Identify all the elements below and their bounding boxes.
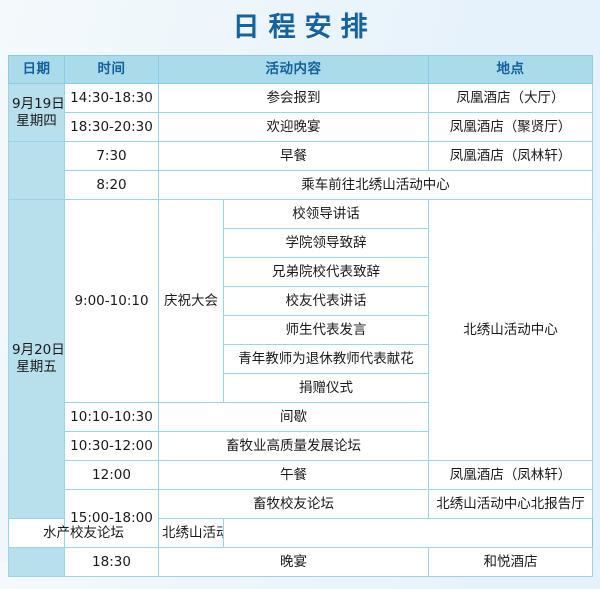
time-cell: 14:30-18:30 [65, 84, 159, 113]
activity-cell: 欢迎晚宴 [159, 113, 429, 142]
place-cell: 凤凰酒店（大厅） [429, 84, 593, 113]
time-cell: 18:30 [65, 548, 159, 577]
time-cell: 12:00 [65, 461, 159, 490]
activity-cell: 畜牧校友论坛 [159, 490, 429, 519]
activity-cell: 学院领导致辞 [224, 229, 429, 258]
place-cell: 和悦酒店 [429, 548, 593, 577]
schedule-page: 日程安排 日期 时间 活动内容 地点 9月19日 星期四 [0, 0, 600, 562]
table-row: 12:00 午餐 凤凰酒店（凤林轩） [9, 461, 593, 490]
activity-cell: 师生代表发言 [224, 316, 429, 345]
activity-cell: 早餐 [159, 142, 429, 171]
activity-cell: 捐赠仪式 [224, 374, 429, 403]
activity-cell: 校领导讲话 [224, 200, 429, 229]
table-header-row: 日期 时间 活动内容 地点 [9, 56, 593, 84]
activity-cell: 畜牧业高质量发展论坛 [159, 432, 429, 461]
date-line-2: 星期四 [16, 113, 57, 129]
time-cell: 10:10-10:30 [65, 403, 159, 432]
schedule-table-wrapper: 日期 时间 活动内容 地点 9月19日 星期四 14:30-18:30 参会报到… [0, 55, 600, 589]
schedule-table: 日期 时间 活动内容 地点 9月19日 星期四 14:30-18:30 参会报到… [8, 55, 593, 577]
date-line-2: 星期五 [16, 359, 57, 375]
column-header-activity: 活动内容 [159, 56, 429, 84]
activity-cell: 参会报到 [159, 84, 429, 113]
place-cell: 凤凰酒店（凤林轩） [429, 142, 593, 171]
activity-cell: 乘车前往北绣山活动中心 [159, 171, 593, 200]
table-row: 9月20日 星期五 9:00-10:10 庆祝大会 校领导讲话 北绣山活动中心 [9, 200, 593, 229]
activity-cell: 晚宴 [159, 548, 429, 577]
activity-cell: 青年教师为退休教师代表献花 [224, 345, 429, 374]
column-header-place: 地点 [429, 56, 593, 84]
time-cell: 18:30-20:30 [65, 113, 159, 142]
page-title: 日程安排 [224, 14, 377, 41]
table-row: 15:00-18:00 畜牧校友论坛 北绣山活动中心北报告厅 [9, 490, 593, 519]
place-cell: 北绣山活动中心北报告厅 [429, 490, 593, 519]
table-row: 7:30 早餐 凤凰酒店（凤林轩） [9, 142, 593, 171]
date-cell-day2: 9月20日 星期五 [9, 200, 65, 519]
activity-cell: 兄弟院校代表致辞 [224, 258, 429, 287]
place-cell: 凤凰酒店（聚贤厅） [429, 113, 593, 142]
place-cell: 北绣山活动中心南报告厅 [159, 519, 224, 548]
time-cell: 10:30-12:00 [65, 432, 159, 461]
table-row: 18:30-20:30 欢迎晚宴 凤凰酒店（聚贤厅） [9, 113, 593, 142]
activity-group-ceremony: 庆祝大会 [159, 200, 224, 403]
time-cell: 7:30 [65, 142, 159, 171]
table-row: 9月19日 星期四 14:30-18:30 参会报到 凤凰酒店（大厅） [9, 84, 593, 113]
place-cell-merged-venue: 北绣山活动中心 [429, 200, 593, 461]
column-header-date: 日期 [9, 56, 65, 84]
table-row: 8:20 乘车前往北绣山活动中心 [9, 171, 593, 200]
activity-cell: 午餐 [159, 461, 429, 490]
column-header-time: 时间 [65, 56, 159, 84]
date-line-1: 9月19日 [12, 96, 65, 112]
date-cell-day1: 9月19日 星期四 [9, 84, 65, 142]
date-line-1: 9月20日 [12, 342, 65, 358]
time-cell-ceremony: 9:00-10:10 [65, 200, 159, 403]
activity-cell: 校友代表讲话 [224, 287, 429, 316]
activity-cell: 间歇 [159, 403, 429, 432]
date-spacer-day2-bottom [9, 548, 65, 577]
time-cell: 8:20 [65, 171, 159, 200]
table-row: 18:30 晚宴 和悦酒店 [9, 548, 593, 577]
date-spacer-day2-top [9, 142, 65, 200]
page-title-bar: 日程安排 [0, 0, 600, 55]
place-cell: 凤凰酒店（凤林轩） [429, 461, 593, 490]
